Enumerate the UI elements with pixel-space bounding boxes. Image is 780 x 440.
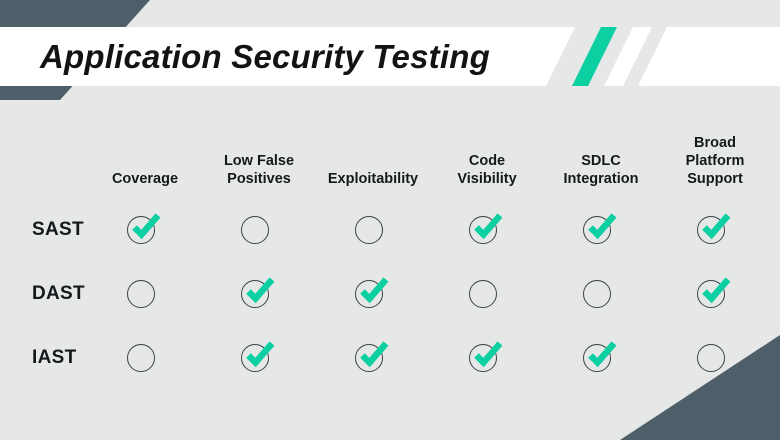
check-circle-icon bbox=[239, 277, 279, 311]
cell-iast-coverage bbox=[88, 338, 202, 378]
check-circle-icon bbox=[353, 341, 393, 375]
cell-dast-low-false-positives bbox=[202, 274, 316, 314]
page-title: Application Security Testing bbox=[40, 27, 490, 86]
checkmark-glyph bbox=[130, 210, 162, 242]
empty-circle-icon bbox=[125, 341, 165, 375]
column-header-line: SDLC bbox=[544, 152, 658, 170]
column-header-line: Exploitability bbox=[316, 170, 430, 188]
column-header-line: Visibility bbox=[430, 170, 544, 188]
circle-outline bbox=[697, 344, 725, 372]
cell-iast-exploitability bbox=[316, 338, 430, 378]
cell-dast-coverage bbox=[88, 274, 202, 314]
checkmark-glyph bbox=[358, 338, 390, 370]
column-header-line: Platform bbox=[658, 152, 772, 170]
check-circle-icon bbox=[695, 213, 735, 247]
circle-outline bbox=[127, 344, 155, 372]
checkmark-glyph bbox=[700, 210, 732, 242]
circle-outline bbox=[469, 280, 497, 308]
circle-outline bbox=[241, 216, 269, 244]
column-header-exploitability: Exploitability bbox=[316, 170, 430, 188]
column-header-coverage: Coverage bbox=[88, 170, 202, 188]
cell-dast-exploitability bbox=[316, 274, 430, 314]
cell-sast-code-visibility bbox=[430, 210, 544, 250]
cell-iast-sdlc-integration bbox=[544, 338, 658, 378]
check-circle-icon bbox=[695, 277, 735, 311]
checkmark-glyph bbox=[244, 338, 276, 370]
checkmark-glyph bbox=[472, 210, 504, 242]
check-circle-icon bbox=[125, 213, 165, 247]
check-circle-icon bbox=[467, 341, 507, 375]
cell-sast-exploitability bbox=[316, 210, 430, 250]
column-header-line: Coverage bbox=[88, 170, 202, 188]
slide-canvas: Application Security Testing CoverageLow… bbox=[0, 0, 780, 440]
header-band-tail bbox=[638, 27, 780, 86]
column-header-line: Broad bbox=[658, 134, 772, 152]
cell-sast-coverage bbox=[88, 210, 202, 250]
checkmark-glyph bbox=[358, 274, 390, 306]
checkmark-glyph bbox=[700, 274, 732, 306]
cell-iast-code-visibility bbox=[430, 338, 544, 378]
check-circle-icon bbox=[581, 213, 621, 247]
check-circle-icon bbox=[467, 213, 507, 247]
table-row: DAST bbox=[0, 262, 780, 326]
comparison-matrix: CoverageLow FalsePositivesExploitability… bbox=[0, 110, 780, 410]
circle-outline bbox=[583, 280, 611, 308]
row-label-dast: DAST bbox=[32, 283, 85, 305]
cell-sast-low-false-positives bbox=[202, 210, 316, 250]
cell-sast-sdlc-integration bbox=[544, 210, 658, 250]
row-label-iast: IAST bbox=[32, 347, 76, 369]
cell-iast-low-false-positives bbox=[202, 338, 316, 378]
matrix-header-row: CoverageLow FalsePositivesExploitability… bbox=[0, 110, 780, 188]
empty-circle-icon bbox=[581, 277, 621, 311]
cell-sast-broad-platform-support bbox=[658, 210, 772, 250]
empty-circle-icon bbox=[467, 277, 507, 311]
checkmark-glyph bbox=[244, 274, 276, 306]
check-circle-icon bbox=[239, 341, 279, 375]
column-header-sdlc-integration: SDLCIntegration bbox=[544, 152, 658, 188]
cell-dast-code-visibility bbox=[430, 274, 544, 314]
circle-outline bbox=[127, 280, 155, 308]
column-header-low-false-positives: Low FalsePositives bbox=[202, 152, 316, 188]
column-header-broad-platform-support: BroadPlatformSupport bbox=[658, 134, 772, 188]
table-row: IAST bbox=[0, 326, 780, 390]
check-circle-icon bbox=[581, 341, 621, 375]
checkmark-glyph bbox=[586, 210, 618, 242]
column-header-line: Code bbox=[430, 152, 544, 170]
column-header-line: Low False bbox=[202, 152, 316, 170]
cell-dast-broad-platform-support bbox=[658, 274, 772, 314]
check-circle-icon bbox=[353, 277, 393, 311]
empty-circle-icon bbox=[695, 341, 735, 375]
cell-iast-broad-platform-support bbox=[658, 338, 772, 378]
row-label-sast: SAST bbox=[32, 219, 84, 241]
column-header-line: Support bbox=[658, 170, 772, 188]
column-header-line: Positives bbox=[202, 170, 316, 188]
empty-circle-icon bbox=[353, 213, 393, 247]
table-row: SAST bbox=[0, 198, 780, 262]
circle-outline bbox=[355, 216, 383, 244]
checkmark-glyph bbox=[586, 338, 618, 370]
column-header-line: Integration bbox=[544, 170, 658, 188]
empty-circle-icon bbox=[239, 213, 279, 247]
column-header-code-visibility: CodeVisibility bbox=[430, 152, 544, 188]
empty-circle-icon bbox=[125, 277, 165, 311]
cell-dast-sdlc-integration bbox=[544, 274, 658, 314]
checkmark-glyph bbox=[472, 338, 504, 370]
